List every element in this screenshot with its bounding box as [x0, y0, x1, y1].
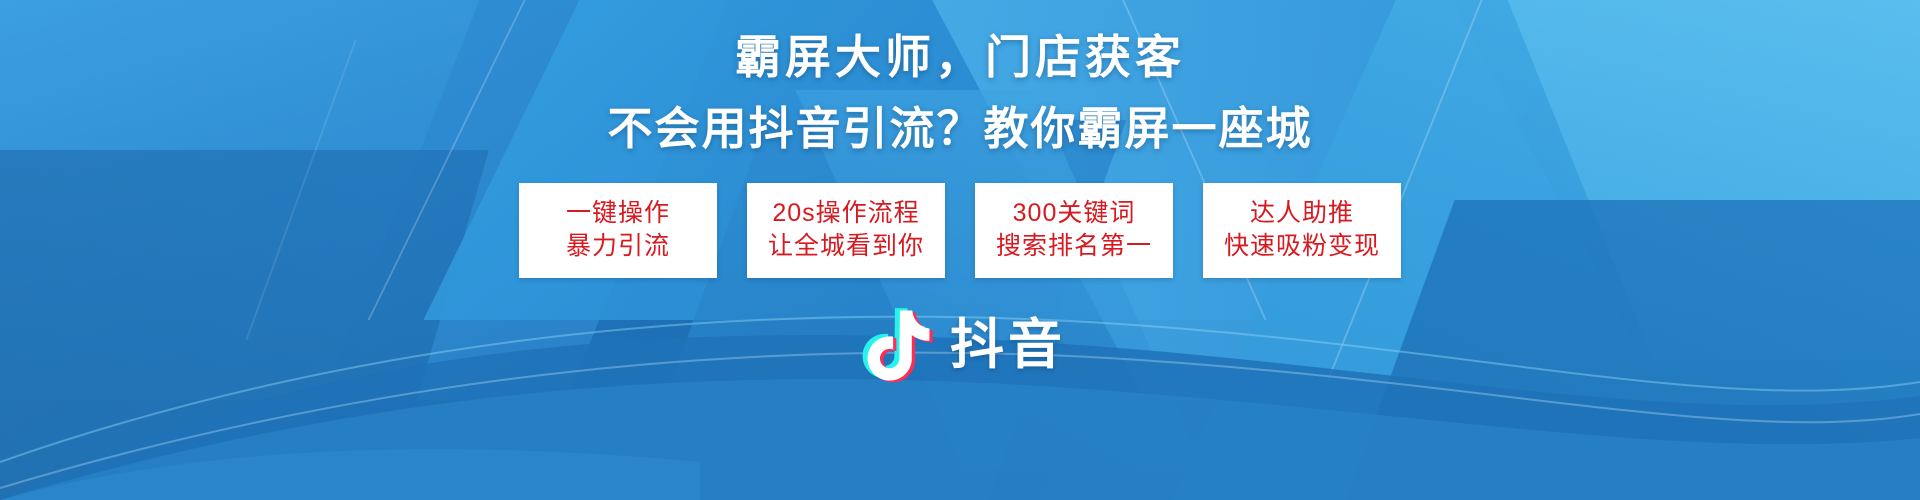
feature-box[interactable]: 20s操作流程 让全城看到你 — [747, 183, 945, 278]
headline-line-1: 霸屏大师，门店获客 — [735, 34, 1185, 80]
brand-name: 抖音 — [950, 318, 1066, 372]
feature-box[interactable]: 300关键词 搜索排名第一 — [975, 183, 1173, 278]
feature-text-line-1: 20s操作流程 — [753, 197, 939, 230]
feature-box[interactable]: 达人助推 快速吸粉变现 — [1203, 183, 1401, 278]
tiktok-note-icon — [854, 304, 936, 386]
feature-text-line-2: 暴力引流 — [525, 230, 711, 263]
feature-text-line-2: 快速吸粉变现 — [1209, 230, 1395, 263]
feature-text-line-2: 搜索排名第一 — [981, 230, 1167, 263]
feature-text-line-1: 300关键词 — [981, 197, 1167, 230]
banner-content: 霸屏大师，门店获客 不会用抖音引流？教你霸屏一座城 一键操作 暴力引流 20s操… — [0, 0, 1920, 500]
promo-banner: 霸屏大师，门店获客 不会用抖音引流？教你霸屏一座城 一键操作 暴力引流 20s操… — [0, 0, 1920, 500]
feature-box-list: 一键操作 暴力引流 20s操作流程 让全城看到你 300关键词 搜索排名第一 达… — [519, 183, 1401, 278]
headline-line-2: 不会用抖音引流？教你霸屏一座城 — [607, 106, 1312, 151]
feature-text-line-1: 达人助推 — [1209, 197, 1395, 230]
feature-text-line-1: 一键操作 — [525, 197, 711, 230]
feature-box[interactable]: 一键操作 暴力引流 — [519, 183, 717, 278]
brand-lockup: 抖音 — [854, 304, 1066, 386]
feature-text-line-2: 让全城看到你 — [753, 230, 939, 263]
